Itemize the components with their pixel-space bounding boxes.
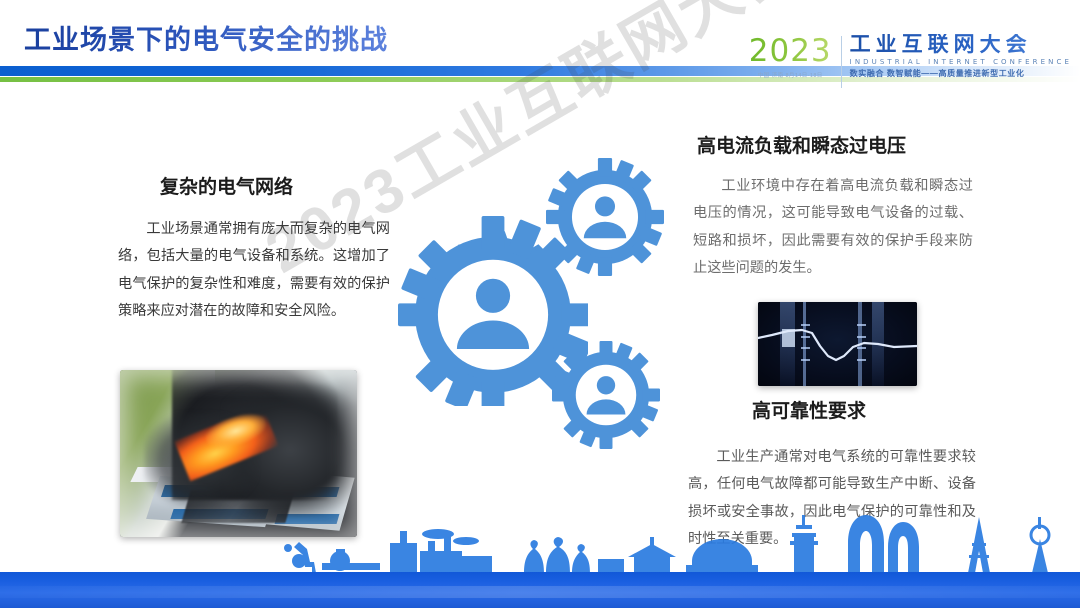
skyline-decoration bbox=[0, 511, 1080, 573]
waveform-trace bbox=[758, 302, 917, 386]
logo-name-cn: 工业互联网大会 bbox=[850, 34, 1072, 56]
logo-name-en: INDUSTRIAL INTERNET CONFERENCE bbox=[850, 58, 1072, 66]
section-body-complex-network: 工业场景通常拥有庞大而复杂的电气网络，包括大量的电气设备和系统。这增加了电气保护… bbox=[118, 216, 390, 325]
waveform-scope-photo bbox=[758, 302, 917, 386]
section-heading-complex-network: 复杂的电气网络 bbox=[160, 172, 293, 199]
logo-year: 2023 bbox=[749, 34, 832, 67]
presentation-slide: 工业场景下的电气安全的挑战 2023 中国·济南 8月14日-18日 工业互联网… bbox=[0, 0, 1080, 608]
section-body-high-current: 工业环境中存在着高电流负载和瞬态过电压的情况，这可能导致电气设备的过载、短路和损… bbox=[693, 173, 973, 282]
page-title: 工业场景下的电气安全的挑战 bbox=[24, 18, 388, 57]
conference-logo: 2023 中国·济南 8月14日-18日 工业互联网大会 INDUSTRIAL … bbox=[749, 34, 1072, 90]
logo-text-group: 工业互联网大会 INDUSTRIAL INTERNET CONFERENCE 数… bbox=[850, 34, 1072, 79]
logo-divider bbox=[841, 36, 842, 88]
gear-person-icon-top bbox=[546, 158, 664, 276]
gear-person-icon-bottom bbox=[552, 341, 660, 449]
logo-year-group: 2023 中国·济南 8月14日-18日 bbox=[749, 34, 832, 79]
section-heading-high-current: 高电流负载和瞬态过电压 bbox=[697, 131, 906, 158]
footer-bar bbox=[0, 572, 1080, 608]
logo-slogan: 数实融合 数智赋能——高质量推进新型工业化 bbox=[850, 68, 1072, 79]
section-heading-high-reliability: 高可靠性要求 bbox=[752, 396, 866, 423]
logo-date-line: 中国·济南 8月14日-18日 bbox=[749, 71, 832, 79]
gear-icon-cluster bbox=[398, 158, 688, 458]
